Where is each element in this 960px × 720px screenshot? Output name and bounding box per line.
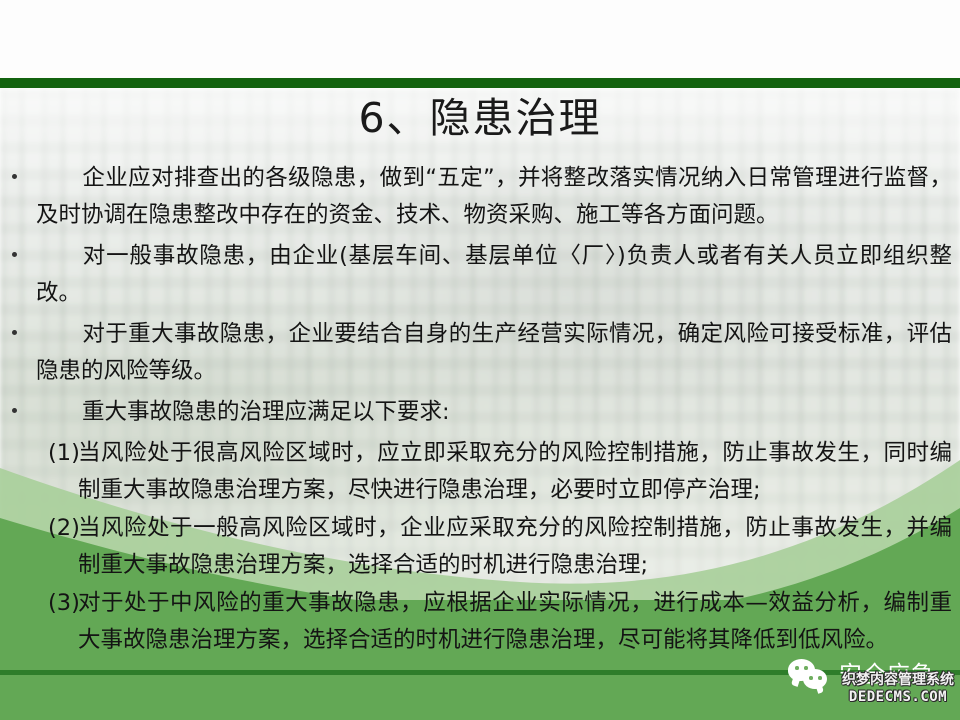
bullet-dot-icon — [12, 408, 17, 413]
numbered-list-item: (3)对于处于中风险的重大事故隐患，应根据企业实际情况，进行成本—效益分析，编制… — [8, 585, 952, 659]
bullet-text: 重大事故隐患的治理应满足以下要求: — [82, 399, 450, 425]
bullet-dot-icon — [12, 252, 17, 257]
bullet-dot-icon — [12, 330, 17, 335]
bullet-text: 对于重大事故隐患，企业要结合自身的生产经营实际情况，确定风险可接受标准，评估隐患… — [36, 321, 952, 384]
bullet-paragraph: 对一般事故隐患，由企业(基层车间、基层单位〈厂〉)负责人或者有关人员立即组织整改… — [8, 238, 952, 312]
bullet-paragraph: 企业应对排查出的各级隐患，做到“五定”，并将整改落实情况纳入日常管理进行监督，及… — [8, 160, 952, 234]
list-item-number: (1) — [48, 435, 82, 472]
bullet-text: 对一般事故隐患，由企业(基层车间、基层单位〈厂〉)负责人或者有关人员立即组织整改… — [36, 243, 952, 306]
numbered-list-item: (1)当风险处于很高风险区域时，应立即采取充分的风险控制措施，防止事故发生，同时… — [8, 435, 952, 509]
wechat-bubble-small — [803, 669, 827, 689]
numbered-list: (1)当风险处于很高风险区域时，应立即采取充分的风险控制措施，防止事故发生，同时… — [8, 435, 952, 659]
slide-body: 企业应对排查出的各级隐患，做到“五定”，并将整改落实情况纳入日常管理进行监督，及… — [8, 160, 952, 660]
wechat-eye — [809, 676, 813, 680]
bullet-text: 企业应对排查出的各级隐患，做到“五定”，并将整改落实情况纳入日常管理进行监督，及… — [36, 165, 952, 228]
presentation-slide: 6、隐患治理 企业应对排查出的各级隐患，做到“五定”，并将整改落实情况纳入日常管… — [0, 0, 960, 720]
list-item-text: 当风险处于很高风险区域时，应立即采取充分的风险控制措施，防止事故发生，同时编制重… — [78, 440, 952, 503]
numbered-list-item: (2)当风险处于一般高风险区域时，企业应采取充分的风险控制措施，防止事故发生，并… — [8, 510, 952, 584]
list-item-text: 当风险处于一般高风险区域时，企业应采取充分的风险控制措施，防止事故发生，并编制重… — [78, 515, 952, 578]
wechat-icon — [788, 658, 832, 692]
wechat-account-branding: 安全应急 — [788, 652, 956, 698]
bullet-dot-icon — [12, 174, 17, 179]
list-item-text: 对于处于中风险的重大事故隐患，应根据企业实际情况，进行成本—效益分析，编制重大事… — [78, 590, 952, 653]
wechat-eye — [795, 666, 799, 670]
bullet-paragraph: 重大事故隐患的治理应满足以下要求: — [8, 394, 952, 431]
wechat-account-name: 安全应急 — [839, 661, 935, 689]
slide-title: 6、隐患治理 — [0, 92, 960, 144]
bullet-paragraph: 对于重大事故隐患，企业要结合自身的生产经营实际情况，确定风险可接受标准，评估隐患… — [8, 316, 952, 390]
list-item-number: (3) — [48, 585, 82, 622]
slide-content: 6、隐患治理 企业应对排查出的各级隐患，做到“五定”，并将整改落实情况纳入日常管… — [0, 0, 960, 720]
list-item-number: (2) — [48, 510, 82, 547]
wechat-eye — [804, 666, 808, 670]
wechat-eye — [818, 676, 822, 680]
